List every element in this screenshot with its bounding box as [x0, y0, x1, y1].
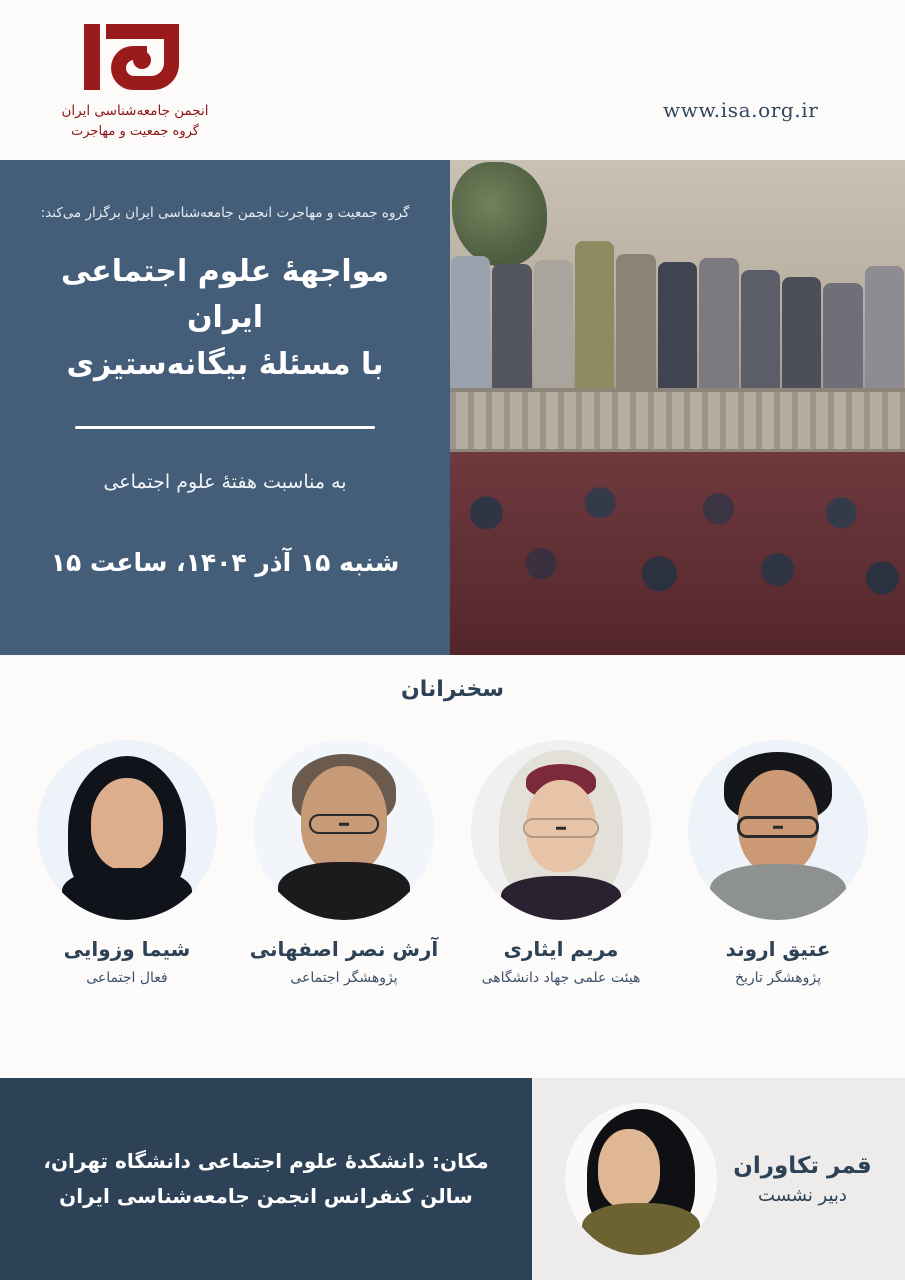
speaker-portrait-maryam-isari — [471, 740, 651, 920]
venue-line2: سالن کنفرانس انجمن جامعه‌شناسی ایران — [43, 1179, 488, 1214]
speaker-card: مریم ایثاری هیئت علمی جهاد دانشگاهی — [464, 740, 659, 989]
speaker-name: آرش نصر اصفهانی — [250, 936, 439, 962]
panel-people — [450, 200, 905, 408]
event-details-panel: گروه جمعیت و مهاجرت انجمن جامعه‌شناسی ای… — [0, 160, 450, 655]
speaker-card: شیما وزوایی فعال اجتماعی — [30, 740, 225, 989]
speaker-role: پژوهشگر اجتماعی — [290, 969, 397, 989]
venue-text: مکان: دانشکدهٔ علوم اجتماعی دانشگاه تهرا… — [43, 1144, 488, 1214]
title-divider — [75, 426, 375, 429]
website-url[interactable]: www.isa.org.ir — [663, 98, 818, 122]
speakers-heading: سخنرانان — [0, 677, 905, 702]
poster-header: انجمن جامعه‌شناسی ایران گروه جمعیت و مها… — [0, 0, 905, 160]
event-datetime: شنبه ۱۵ آذر ۱۴۰۴، ساعت ۱۵ — [51, 544, 400, 582]
session-secretary-panel: قمر تکاوران دبیر نشست — [532, 1078, 905, 1280]
speaker-role: هیئت علمی جهاد دانشگاهی — [482, 969, 641, 989]
speakers-section: سخنرانان شیما وزوایی فعال اجتماعی — [0, 655, 905, 1078]
organizer-line: گروه جمعیت و مهاجرت انجمن جامعه‌شناسی ای… — [26, 202, 424, 225]
venue-panel: مکان: دانشکدهٔ علوم اجتماعی دانشگاه تهرا… — [0, 1078, 532, 1280]
speakers-grid: شیما وزوایی فعال اجتماعی آرش نصر اصفهانی… — [0, 740, 905, 989]
poster-footer: قمر تکاوران دبیر نشست مکان: دانشکدهٔ علو… — [0, 1078, 905, 1280]
event-title-line1: مواجههٔ علوم اجتماعی ایران — [26, 249, 424, 342]
speaker-role: فعال اجتماعی — [86, 969, 167, 989]
speaker-role: پژوهشگر تاریخ — [735, 969, 821, 989]
event-title: مواجههٔ علوم اجتماعی ایران با مسئلهٔ بیگ… — [26, 249, 424, 389]
association-logo: انجمن جامعه‌شناسی ایران گروه جمعیت و مها… — [40, 18, 230, 139]
speaker-name: عتیق اروند — [726, 936, 831, 962]
speaker-portrait-arash-nasr-esfahani — [254, 740, 434, 920]
event-occasion: به مناسبت هفتهٔ علوم اجتماعی — [103, 467, 346, 497]
logo-caption-group: گروه جمعیت و مهاجرت — [71, 124, 199, 139]
event-title-line2: با مسئلهٔ بیگانه‌ستیزی — [26, 342, 424, 389]
isa-monogram-icon — [80, 18, 190, 96]
secretary-name: قمر تکاوران — [733, 1153, 872, 1179]
hero-section: گروه جمعیت و مهاجرت انجمن جامعه‌شناسی ای… — [0, 160, 905, 655]
secretary-info: قمر تکاوران دبیر نشست — [733, 1153, 872, 1206]
speaker-card: آرش نصر اصفهانی پژوهشگر اجتماعی — [247, 740, 442, 989]
speaker-card: عتیق اروند پژوهشگر تاریخ — [681, 740, 876, 989]
secretary-role: دبیر نشست — [733, 1185, 872, 1206]
speaker-name: شیما وزوایی — [64, 936, 191, 962]
speaker-portrait-atigh-arvand — [688, 740, 868, 920]
secretary-portrait-ghamar-takavaran — [565, 1103, 717, 1255]
speaker-portrait-shima-vazvaei — [37, 740, 217, 920]
speaker-name: مریم ایثاری — [504, 936, 619, 962]
event-photo — [450, 160, 905, 655]
logo-caption-association: انجمن جامعه‌شناسی ایران — [62, 103, 209, 119]
venue-line1: مکان: دانشکدهٔ علوم اجتماعی دانشگاه تهرا… — [43, 1144, 488, 1179]
